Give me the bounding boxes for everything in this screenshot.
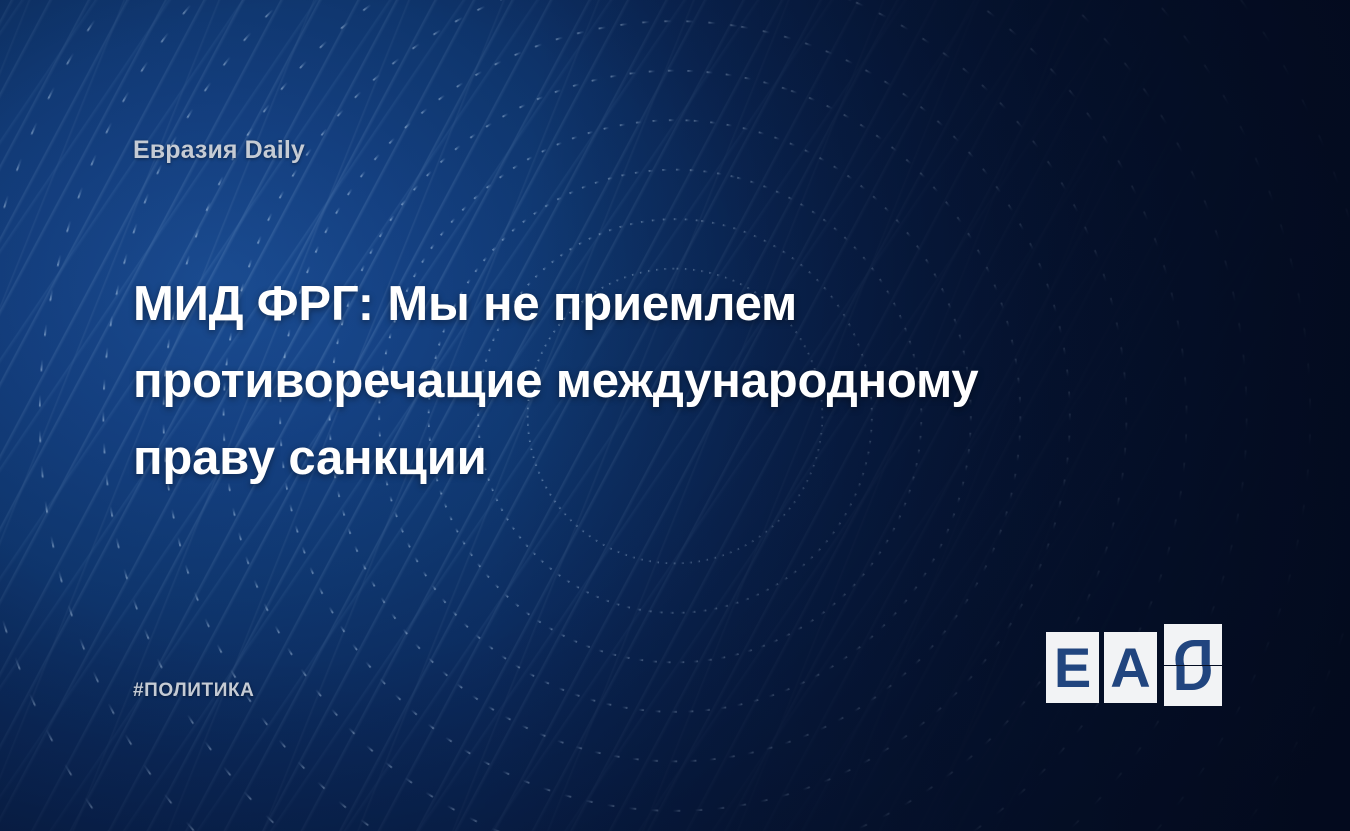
logo-letter-a: A xyxy=(1104,632,1157,703)
brand-wordmark: Евразия Daily xyxy=(133,136,305,165)
category-tag[interactable]: #ПОЛИТИКА xyxy=(133,680,255,702)
logo-letter-e: E xyxy=(1046,632,1099,703)
logo-letter-d-top-glyph: D xyxy=(1173,631,1213,666)
eadaily-logo[interactable]: E A D D xyxy=(1046,624,1222,706)
logo-letter-d-bottom-glyph: D xyxy=(1173,666,1213,699)
page-title: МИД ФРГ: Мы не приемлем противоречащие м… xyxy=(133,266,1123,497)
card-content: Евразия Daily МИД ФРГ: Мы не приемлем пр… xyxy=(0,0,1350,831)
logo-letter-d-top: D xyxy=(1164,624,1222,665)
logo-letter-d-bottom: D xyxy=(1164,666,1222,706)
news-card: Евразия Daily МИД ФРГ: Мы не приемлем пр… xyxy=(0,0,1350,831)
